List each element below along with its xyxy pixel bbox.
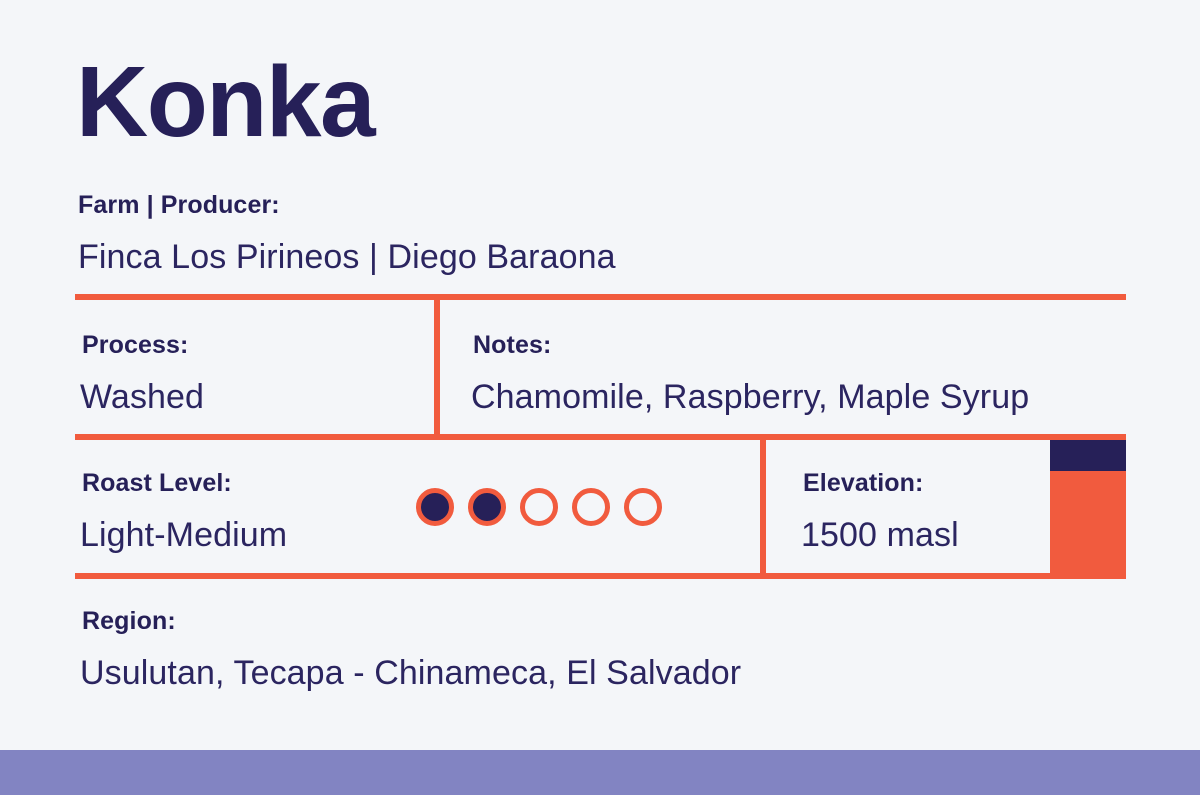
brand-color-swatch — [1050, 440, 1126, 573]
page-title: Konka — [76, 48, 374, 156]
swatch-navy-block — [1050, 440, 1126, 471]
elevation-value: 1500 masl — [801, 514, 959, 556]
farm-producer-label: Farm | Producer: — [78, 190, 280, 220]
roast-dot-3 — [520, 488, 558, 526]
roast-level-value: Light-Medium — [80, 514, 287, 556]
roast-dot-2 — [468, 488, 506, 526]
coffee-label-card: Konka Farm | Producer: Finca Los Pirineo… — [0, 0, 1200, 795]
divider-roast-elevation — [760, 434, 766, 579]
divider-process-notes — [434, 294, 440, 440]
farm-producer-value: Finca Los Pirineos | Diego Baraona — [78, 236, 616, 278]
notes-value: Chamomile, Raspberry, Maple Syrup — [471, 376, 1029, 418]
bottom-accent-band — [0, 750, 1200, 795]
process-label: Process: — [82, 330, 188, 360]
roast-dot-1 — [416, 488, 454, 526]
roast-dot-5 — [624, 488, 662, 526]
divider-top — [75, 294, 1126, 300]
region-label: Region: — [82, 606, 176, 636]
roast-level-meter — [416, 488, 662, 526]
elevation-label: Elevation: — [803, 468, 923, 498]
process-value: Washed — [80, 376, 204, 418]
divider-middle — [75, 434, 1126, 440]
divider-bottom — [75, 573, 1126, 579]
swatch-orange-block — [1050, 471, 1126, 573]
roast-level-label: Roast Level: — [82, 468, 232, 498]
notes-label: Notes: — [473, 330, 551, 360]
roast-dot-4 — [572, 488, 610, 526]
region-value: Usulutan, Tecapa - Chinameca, El Salvado… — [80, 652, 741, 694]
